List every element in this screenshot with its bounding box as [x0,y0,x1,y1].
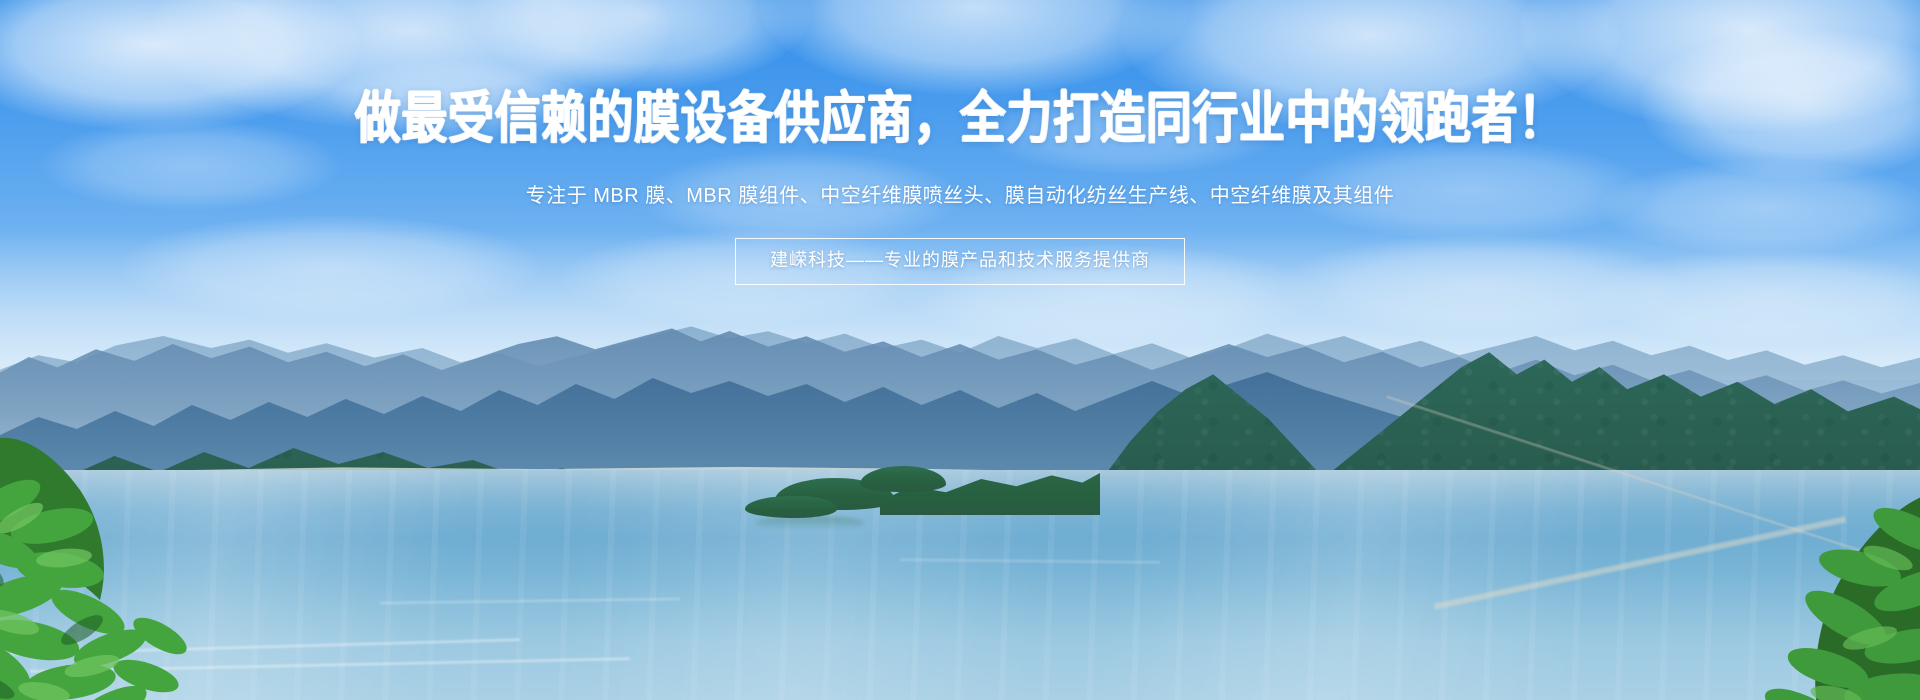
banner-headline: 做最受信赖的膜设备供应商，全力打造同行业中的领跑者！ [10,88,1911,147]
banner-tagline-container: 建嵘科技——专业的膜产品和技术服务提供商 [0,238,1920,285]
hero-banner: 做最受信赖的膜设备供应商，全力打造同行业中的领跑者！ 专注于 MBR 膜、MBR… [0,0,1920,700]
banner-subtitle: 专注于 MBR 膜、MBR 膜组件、中空纤维膜喷丝头、膜自动化纺丝生产线、中空纤… [0,182,1920,210]
island-reflection [755,516,865,530]
right-foliage-branch [1620,470,1920,700]
banner-text-block: 做最受信赖的膜设备供应商，全力打造同行业中的领跑者！ 专注于 MBR 膜、MBR… [0,88,1920,285]
banner-tagline: 建嵘科技——专业的膜产品和技术服务提供商 [735,238,1185,285]
left-foliage-branch [0,430,300,700]
small-island [745,496,837,518]
